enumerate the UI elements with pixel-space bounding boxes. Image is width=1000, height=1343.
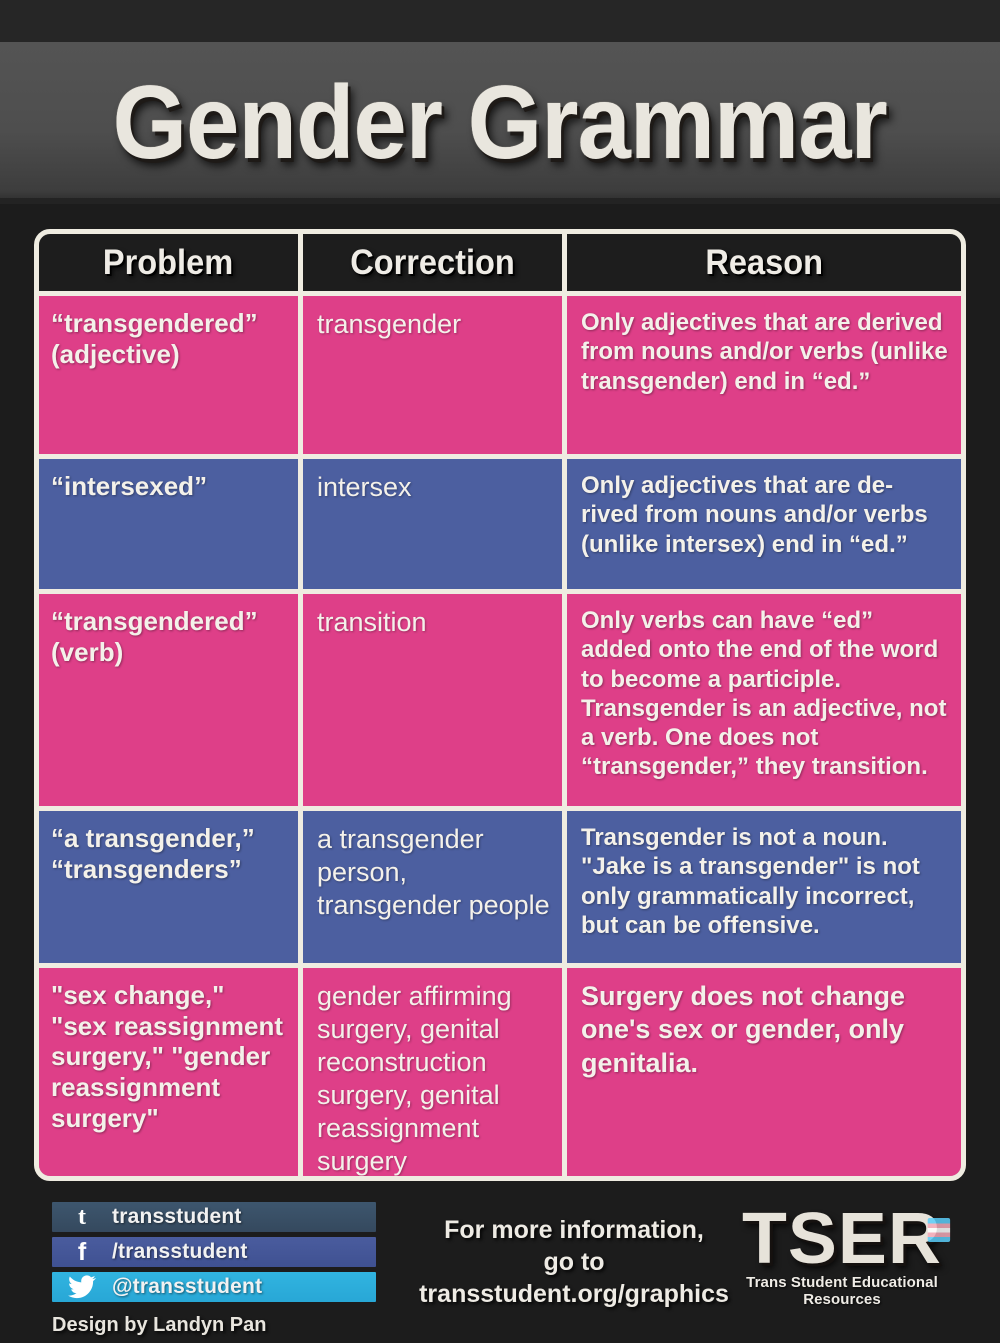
table-row: Only adjectives that are derived from no… (567, 296, 961, 454)
table-row: transgender (303, 296, 562, 454)
design-credit: Design by Landyn Pan (52, 1314, 266, 1337)
social-link-twitter[interactable]: @transstudent (52, 1272, 376, 1302)
tumblr-icon: t (52, 1205, 112, 1229)
table-row: Transgender is not a noun. "Jake is a tr… (567, 811, 961, 963)
table-row: “transgendered” (verb) (39, 594, 298, 806)
column-header-reason-label: Reason (705, 243, 823, 283)
more-information-line1: For more information, (404, 1214, 744, 1246)
column-header-reason: Reason (567, 234, 961, 291)
footer: t transstudent f /transstudent @transstu… (0, 1186, 1000, 1343)
facebook-glyph: f (78, 1240, 86, 1265)
facebook-icon: f (52, 1240, 112, 1265)
column-header-correction: Correction (303, 234, 562, 291)
table-row: “transgendered” (adjective) (39, 296, 298, 454)
page-title: Gender Grammar (109, 71, 891, 175)
table-row: Only adjectives that are de-rived from n… (567, 459, 961, 589)
tser-logo-subtitle: Trans Student Educational Resources (712, 1274, 972, 1308)
tumblr-glyph: t (78, 1205, 86, 1229)
tser-logo-wordmark: TSER (709, 1206, 974, 1272)
table-row: transition (303, 594, 562, 806)
table-row: intersex (303, 459, 562, 589)
social-link-tumblr[interactable]: t transstudent (52, 1202, 376, 1232)
twitter-handle: @transstudent (112, 1275, 262, 1299)
more-information-text: For more information, go to transstudent… (404, 1214, 744, 1310)
table-row: “a transgender,” “transgenders” (39, 811, 298, 963)
table-row: a transgender person, transgender people (303, 811, 562, 963)
facebook-handle: /transstudent (112, 1240, 248, 1264)
top-strip (0, 0, 1000, 42)
column-header-problem-label: Problem (103, 243, 233, 283)
social-links: t transstudent f /transstudent @transstu… (52, 1202, 376, 1307)
trans-flag-icon (928, 1218, 950, 1242)
tser-logo: TSER Trans Student Educational Resources (712, 1206, 972, 1308)
table-row: “intersexed” (39, 459, 298, 589)
poster-root: Gender Grammar Problem Correction Reason… (0, 0, 1000, 1343)
tser-logo-text: TSER (742, 1199, 942, 1279)
table-row: Surgery does not change one's sex or gen… (567, 968, 961, 1181)
table-grid: Problem Correction Reason “transgendered… (39, 234, 961, 1176)
table-row: gender affirming surgery, genital recons… (303, 968, 562, 1181)
twitter-bird-icon (52, 1275, 112, 1299)
table-row: Only verbs can have “ed” added onto the … (567, 594, 961, 806)
column-header-problem: Problem (39, 234, 298, 291)
tumblr-handle: transstudent (112, 1205, 242, 1229)
more-information-line2: go to transstudent.org/graphics (404, 1246, 744, 1310)
title-band: Gender Grammar (0, 42, 1000, 204)
column-header-correction-label: Correction (350, 243, 515, 283)
grammar-table: Problem Correction Reason “transgendered… (34, 229, 966, 1181)
social-link-facebook[interactable]: f /transstudent (52, 1237, 376, 1267)
table-row: "sex change," "sex reassignment surgery,… (39, 968, 298, 1181)
